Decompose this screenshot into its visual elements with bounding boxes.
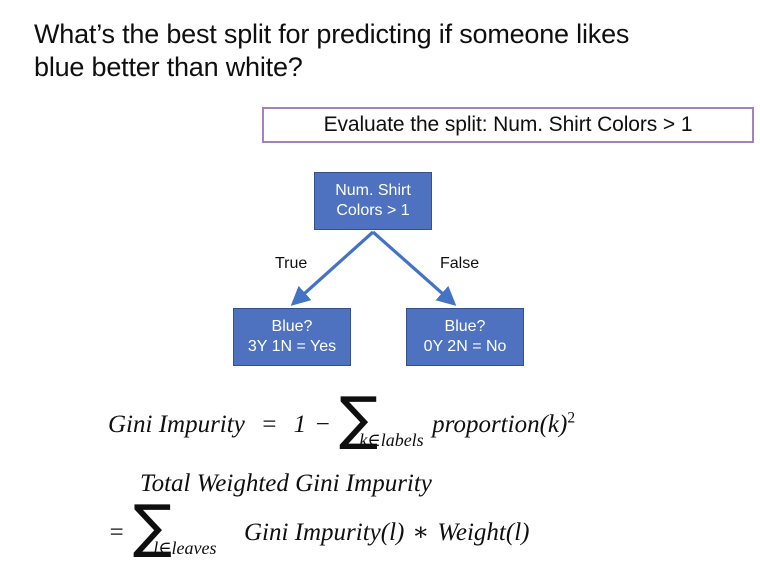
- tree-node-root[interactable]: Num. Shirt Colors > 1: [314, 172, 432, 230]
- edge-label-true: True: [275, 255, 307, 273]
- tree-node-right-leaf[interactable]: Blue? 0Y 2N = No: [406, 308, 524, 366]
- tree-node-left-leaf[interactable]: Blue? 3Y 1N = Yes: [233, 308, 351, 366]
- formula-gini-sum-subscript: k∈labels: [359, 434, 423, 447]
- tree-node-right-line1: Blue?: [445, 317, 486, 337]
- formula-gini-summation-symbol: ∑ k∈labels: [339, 398, 378, 440]
- formula-total-line1: Total Weighted Gini Impurity: [140, 470, 432, 497]
- tree-node-left-line1: Blue?: [272, 317, 313, 337]
- formula-total-term-left: Gini Impurity(l): [244, 519, 404, 547]
- formula-total-weighted-title: Total Weighted Gini Impurity: [140, 470, 432, 498]
- formula-total-weighted-body: = ∑ l∈leaves Gini Impurity(l) ∗ Weight(l…: [108, 500, 529, 547]
- edge-label-false: False: [440, 255, 479, 273]
- formula-total-operator: ∗: [412, 517, 429, 547]
- formula-total-sum-subscript: l∈leaves: [153, 542, 216, 555]
- evaluate-split-text: Evaluate the split: Num. Shirt Colors > …: [324, 113, 693, 137]
- formula-gini-equals: =: [261, 411, 278, 439]
- formula-total-term-right: Weight(l): [437, 519, 529, 547]
- formula-gini-term: proportion(k)2: [432, 411, 575, 439]
- formula-total-summation-symbol: ∑ l∈leaves: [133, 506, 172, 548]
- formula-gini-impurity: Gini Impurity = 1 − ∑ k∈labels proportio…: [108, 392, 575, 439]
- tree-node-right-line2: 0Y 2N = No: [424, 337, 507, 357]
- slide-canvas: What’s the best split for predicting if …: [0, 0, 760, 565]
- formula-gini-lhs: Gini Impurity: [108, 411, 245, 439]
- formula-gini-exponent: 2: [567, 410, 575, 427]
- formula-gini-one: 1: [294, 411, 307, 439]
- tree-node-root-line1: Num. Shirt: [335, 181, 411, 201]
- tree-node-left-line2: 3Y 1N = Yes: [248, 337, 336, 357]
- formula-gini-minus: −: [314, 411, 331, 439]
- formula-gini-term-text: proportion(k): [432, 411, 567, 438]
- tree-node-root-line2: Colors > 1: [336, 201, 409, 221]
- evaluate-split-callout: Evaluate the split: Num. Shirt Colors > …: [262, 107, 754, 143]
- formula-total-equals: =: [108, 519, 125, 547]
- page-title: What’s the best split for predicting if …: [34, 18, 724, 84]
